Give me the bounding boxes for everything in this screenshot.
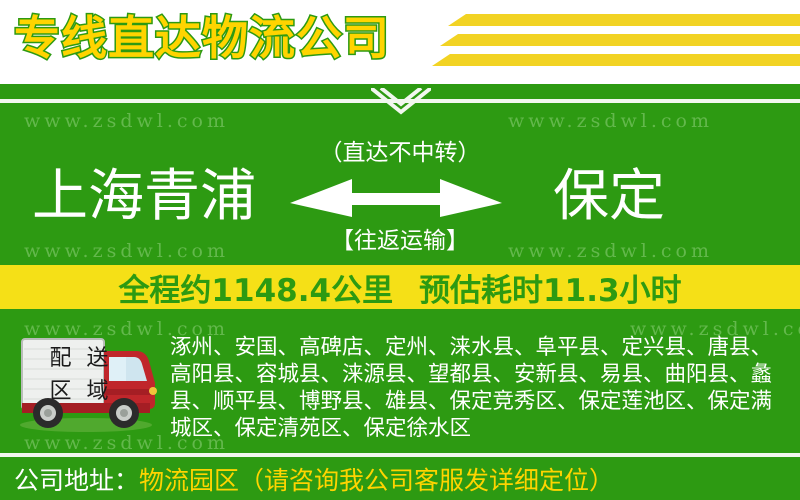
destination-city: 保定 [553, 166, 665, 228]
company-address-value: 物流园区（请咨询我公司客服发详细定位） [139, 461, 614, 497]
origin-city: 上海青浦 [32, 166, 256, 228]
header-stripes-decoration [430, 12, 800, 74]
company-address-label: 公司地址： [14, 461, 139, 497]
double-arrow-icon [290, 173, 502, 223]
trip-distance: 全程约1148.4公里 [118, 265, 393, 310]
delivery-areas-text: 涿州、安国、高碑店、定州、涞水县、阜平县、定兴县、唐县、高阳县、容城县、涞源县、… [170, 334, 784, 442]
route-section: （直达不中转） 上海青浦 保定 【往返运输】 [0, 103, 800, 260]
header-bar: 专线直达物流公司 [0, 0, 800, 84]
page-title: 专线直达物流公司 [14, 6, 390, 70]
delivery-truck-icon [8, 333, 160, 437]
stripe-3 [432, 54, 800, 66]
direct-service-note: （直达不中转） [300, 133, 500, 167]
footer-bar: 公司地址： 物流园区（请咨询我公司客服发详细定位） [0, 457, 800, 500]
stripe-1 [448, 14, 800, 26]
trip-duration: 预估耗时11.3小时 [419, 265, 682, 310]
stripe-2 [440, 34, 800, 46]
trip-info-band: 全程约1148.4公里 预估耗时11.3小时 [0, 265, 800, 309]
logistics-poster: 专线直达物流公司 www.zsdwl.com www.zsdwl.com www… [0, 0, 800, 500]
round-trip-note: 【往返运输】 [300, 221, 500, 255]
